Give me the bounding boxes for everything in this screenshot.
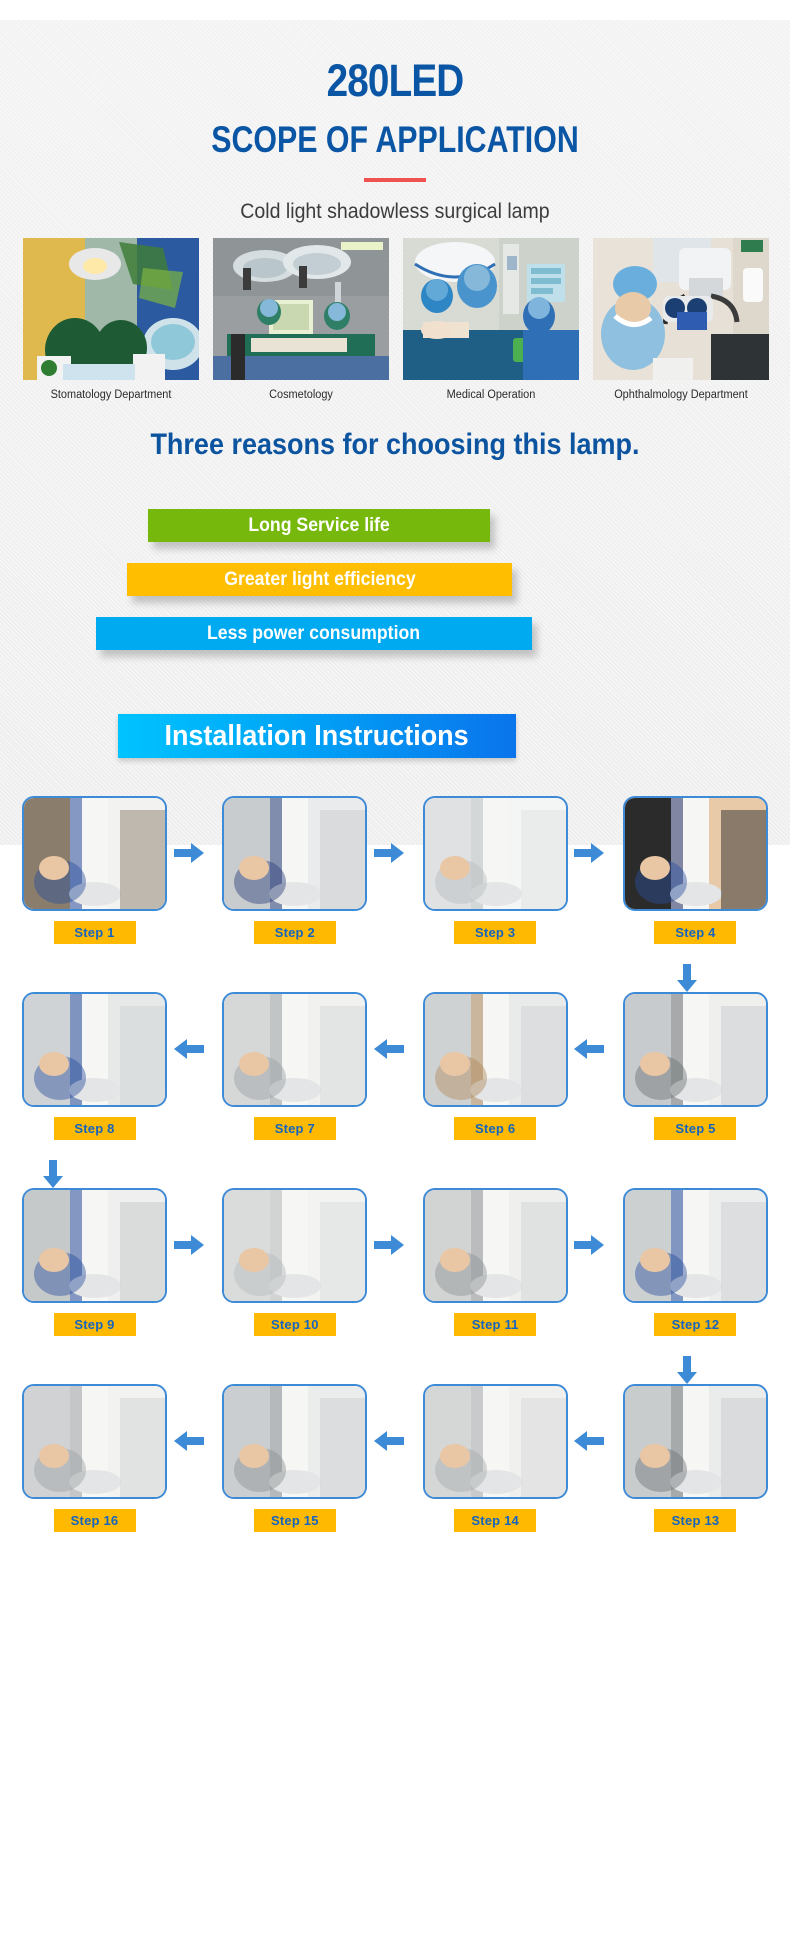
scope-item-caption: Ophthalmology Department [597,389,764,401]
step-label: Step 10 [254,1313,336,1336]
step-item: Step 9 [22,1188,167,1358]
scope-item-caption: Stomatology Department [27,389,194,401]
page-subtitle: SCOPE OF APPLICATION [71,121,719,158]
arrow-left-icon [574,1431,604,1451]
wiring-base-plate-photo [22,796,167,911]
step-item: Step 4 [623,796,768,966]
step-label: Step 13 [654,1509,736,1532]
fastening-screw-photo [623,1188,768,1303]
step-item: Step 3 [423,796,568,966]
attach-pole-to-base-photo [222,796,367,911]
tightening-joint-photo [22,992,167,1107]
product-tagline: Cold light shadowless surgical lamp [28,200,763,224]
step-label: Step 3 [454,921,536,944]
insert-arm-tube-photo [623,992,768,1107]
reason-bar-label: Long Service life [248,515,389,537]
step-label: Step 1 [54,921,136,944]
step-label: Step 6 [454,1117,536,1140]
hands-tightening-photo [623,796,768,911]
step-item: Step 16 [22,1384,167,1554]
step-label: Step 16 [54,1509,136,1532]
step-label: Step 2 [254,921,336,944]
reason-bar-label: Less power consumption [207,623,420,645]
step-label: Step 14 [454,1509,536,1532]
scope-item: Cosmetology [213,238,389,401]
reason-bar-less-power-consumption: Less power consumption [96,617,532,650]
step-item: Step 11 [423,1188,568,1358]
screwdriver-pole-photo [423,1188,568,1303]
holding-curved-arm-photo [423,992,568,1107]
dental-surgery-photo [23,238,199,380]
arrow-right-icon [574,1235,604,1255]
installation-steps: Step 1 Step 2 Step 3 [0,796,790,1554]
reasons-heading: Three reasons for choosing this lamp. [40,428,751,462]
step-item: Step 8 [22,992,167,1162]
upper-arm-photo [423,1384,568,1499]
lamp-head-mounted-photo [222,1384,367,1499]
reason-bar-label: Greater light efficiency [224,569,415,591]
scope-photo-row: Stomatology Department [23,238,769,401]
step-row: Step 16 Step 15 Step 14 [22,1384,768,1554]
step-label: Step 8 [54,1117,136,1140]
medical-operation-photo [403,238,579,380]
step-label: Step 15 [254,1509,336,1532]
scope-item-caption: Medical Operation [407,389,574,401]
step-item: Step 5 [623,992,768,1162]
step-item: Step 14 [423,1384,568,1554]
step-item: Step 7 [222,992,367,1162]
scope-item: Ophthalmology Department [593,238,769,401]
arrow-right-icon [374,1235,404,1255]
step-item: Step 15 [222,1384,367,1554]
reason-bar-long-service-life: Long Service life [148,509,490,542]
finished-lamp-photo [22,1384,167,1499]
arrow-left-icon [374,1431,404,1451]
arrow-down-icon [43,1160,63,1188]
pole-collar-closeup-photo [423,796,568,911]
arrow-left-icon [574,1039,604,1059]
reason-bar-greater-light-efficiency: Greater light efficiency [127,563,512,596]
step-item: Step 12 [623,1188,768,1358]
arrow-right-icon [174,1235,204,1255]
step-item: Step 2 [222,796,367,966]
arrow-down-icon [677,1356,697,1384]
arrow-left-icon [174,1431,204,1451]
step-label: Step 4 [654,921,736,944]
step-label: Step 7 [254,1117,336,1140]
step-row: Step 8 Step 7 Step 6 [22,992,768,1162]
step-item: Step 6 [423,992,568,1162]
step-row: Step 9 Step 10 Step 11 [22,1188,768,1358]
arm-joint-photo [222,992,367,1107]
arrow-right-icon [174,843,204,863]
arrow-down-icon [677,964,697,992]
ophthalmology-microscope-photo [593,238,769,380]
assembled-stand-photo [222,1188,367,1303]
arrow-left-icon [174,1039,204,1059]
step-label: Step 12 [654,1313,736,1336]
title-divider [364,178,426,182]
scope-item: Stomatology Department [23,238,199,401]
scope-item-caption: Cosmetology [217,389,384,401]
arrow-right-icon [374,843,404,863]
page-title: 280LED [55,58,734,103]
step-label: Step 5 [654,1117,736,1140]
arrow-right-icon [574,843,604,863]
connector-cable-photo [22,1188,167,1303]
step-label: Step 9 [54,1313,136,1336]
cosmetology-operating-room-photo [213,238,389,380]
arrow-left-icon [374,1039,404,1059]
step-item: Step 1 [22,796,167,966]
step-row: Step 1 Step 2 Step 3 [22,796,768,966]
step-item: Step 13 [623,1384,768,1554]
step-item: Step 10 [222,1188,367,1358]
scope-item: Medical Operation [403,238,579,401]
installation-instructions-banner: Installation Instructions [118,714,516,758]
installation-banner-label: Installation Instructions [165,720,469,753]
mounting-lamp-head-photo [623,1384,768,1499]
step-label: Step 11 [454,1313,536,1336]
